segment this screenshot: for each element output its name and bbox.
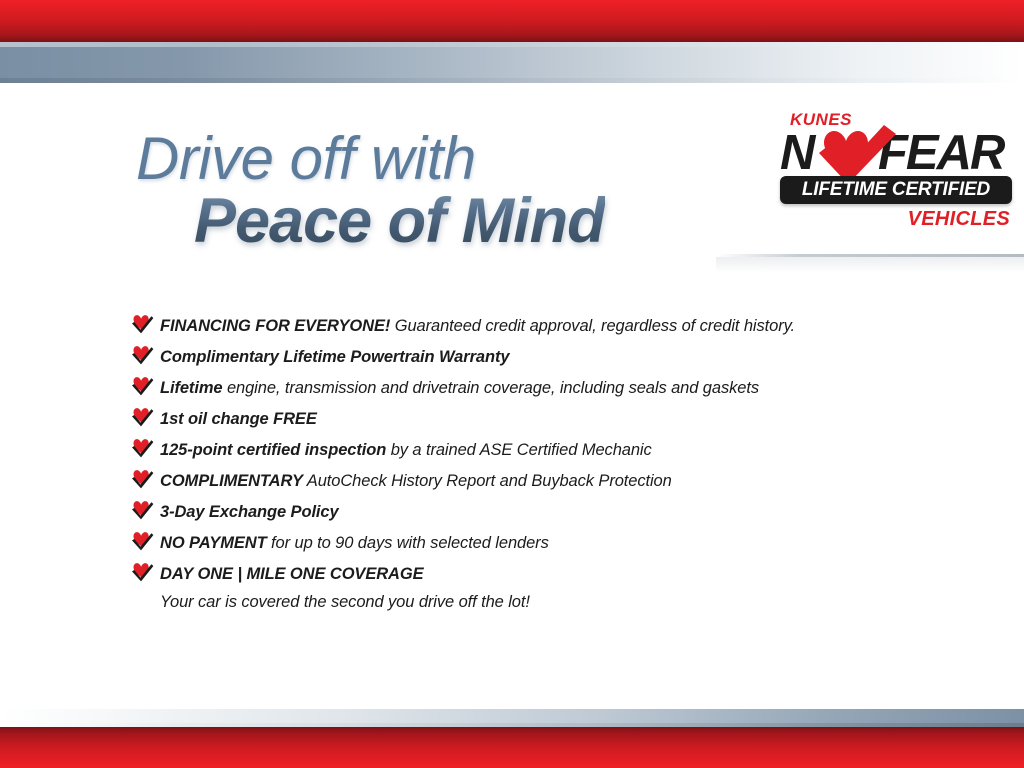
logo-no-fear-wordmark: N FEAR [778,128,1014,180]
headline-line-2: Peace of Mind [194,186,605,256]
list-item: 1st oil change FREE [131,404,991,435]
list-item: 125-point certified inspection by a trai… [131,435,991,466]
list-item: DAY ONE | MILE ONE COVERAGE [131,559,991,590]
list-item-bold: DAY ONE | MILE ONE COVERAGE [160,565,424,583]
heart-check-bullet-icon [131,406,154,427]
heart-check-bullet-icon [131,468,154,489]
list-item: Lifetime engine, transmission and drivet… [131,373,991,404]
top-gray-band-shadow [0,78,1024,83]
header-divider-shadow [716,257,1024,273]
heart-check-bullet-icon [131,375,154,396]
list-item-bold: 3-Day Exchange Policy [160,503,339,521]
heart-check-bullet-icon [131,437,154,458]
list-item-rest: engine, transmission and drivetrain cove… [222,379,759,397]
list-item: COMPLIMENTARY AutoCheck History Report a… [131,466,991,497]
list-item-bold: Complimentary Lifetime Powertrain Warran… [160,348,509,366]
list-item-text: 1st oil change FREE [160,404,317,435]
list-item-block: DAY ONE | MILE ONE COVERAGE [160,559,424,590]
promo-page: Drive off with Peace of Mind KUNES N FEA… [0,0,1024,768]
list-item-bold: 1st oil change FREE [160,410,317,428]
list-item-text: 125-point certified inspection by a trai… [160,435,652,466]
list-item-bold: NO PAYMENT [160,534,267,552]
list-item-rest: by a trained ASE Certified Mechanic [386,441,651,459]
heart-check-bullet-icon [131,344,154,365]
heart-check-bullet-icon [131,313,154,334]
list-item-text: DAY ONE | MILE ONE COVERAGE [160,559,424,590]
list-item-subtext: Your car is covered the second you drive… [160,590,991,614]
heart-check-bullet-icon [131,561,154,582]
bottom-red-band [0,727,1024,768]
heart-check-bullet-icon [131,499,154,520]
list-item-text: FINANCING FOR EVERYONE! Guaranteed credi… [160,311,795,342]
list-item: Complimentary Lifetime Powertrain Warran… [131,342,991,373]
logo-letter-n: N [780,128,813,178]
list-item-text: 3-Day Exchange Policy [160,497,339,528]
list-item-bold: COMPLIMENTARY [160,472,303,490]
list-item: 3-Day Exchange Policy [131,497,991,528]
list-item-text: Lifetime engine, transmission and drivet… [160,373,759,404]
list-item-text: COMPLIMENTARY AutoCheck History Report a… [160,466,672,497]
list-item-text: Complimentary Lifetime Powertrain Warran… [160,342,509,373]
benefits-list: FINANCING FOR EVERYONE! Guaranteed credi… [131,311,991,614]
list-item: NO PAYMENT for up to 90 days with select… [131,528,991,559]
top-red-band [0,0,1024,42]
kunes-no-fear-logo: KUNES N FEAR LIFETIME CERTIFIED VEHICLES [778,110,1014,242]
logo-lifetime-certified-bar: LIFETIME CERTIFIED [780,176,1012,204]
top-gray-band [0,42,1024,83]
list-item-bold: Lifetime [160,379,222,397]
list-item: FINANCING FOR EVERYONE! Guaranteed credi… [131,311,991,342]
logo-vehicles-text: VEHICLES [908,208,1010,231]
top-gray-band-sheen [0,42,1024,47]
list-item-text: NO PAYMENT for up to 90 days with select… [160,528,549,559]
logo-lifetime-certified-text: LIFETIME CERTIFIED [780,176,1012,204]
list-item-rest: AutoCheck History Report and Buyback Pro… [303,472,672,490]
list-item-rest: Guaranteed credit approval, regardless o… [390,317,795,335]
list-item-rest: for up to 90 days with selected lenders [267,534,549,552]
heart-check-bullet-icon [131,530,154,551]
list-item-bold: FINANCING FOR EVERYONE! [160,317,390,335]
headline-line-1: Drive off with [136,126,605,192]
headline: Drive off with Peace of Mind [136,126,605,256]
list-item-bold: 125-point certified inspection [160,441,386,459]
